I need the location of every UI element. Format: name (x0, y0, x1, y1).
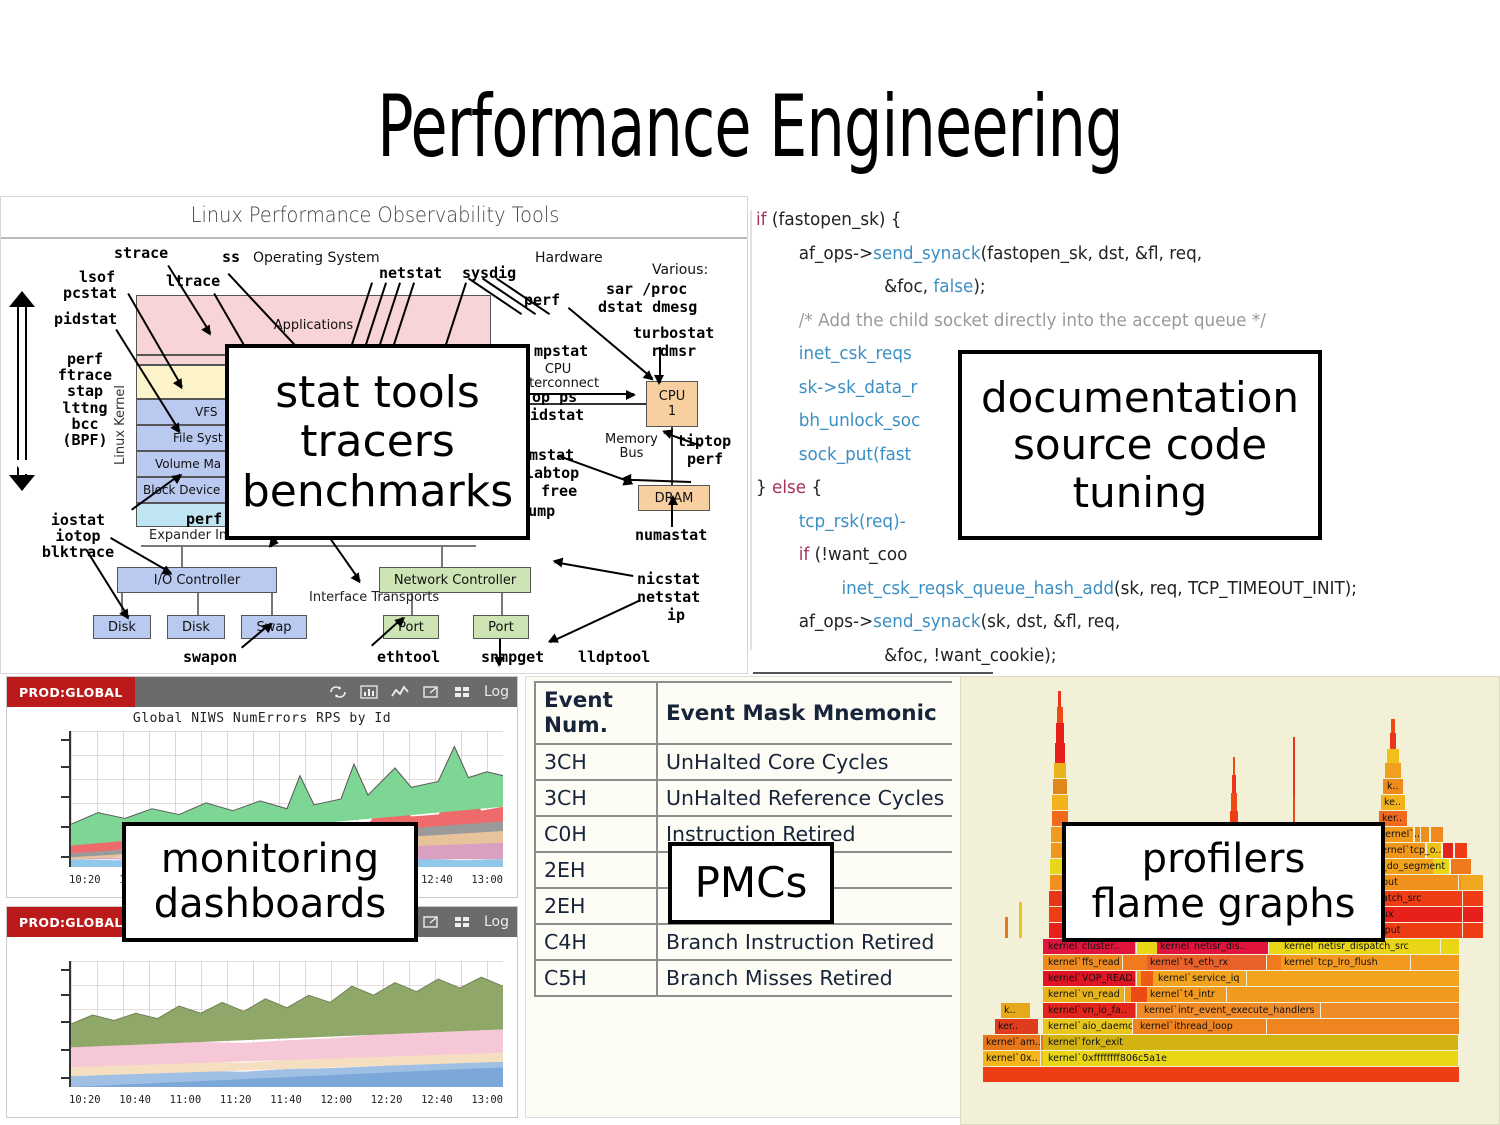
tool-netstat-net: netstat (637, 589, 700, 605)
code-token: (fastopen_sk, dst, &fl, req, (981, 244, 1203, 264)
x-tick-label: 12:20 (371, 1094, 403, 1106)
flame-frame[interactable]: kernel`ithread_loop (1137, 1019, 1267, 1034)
tool-slabtop: labtop (525, 465, 579, 481)
page-title: Performance Engineering (165, 78, 1335, 176)
bar-chart-icon[interactable] (360, 685, 378, 699)
code-token: send_synack (873, 244, 980, 264)
code-token: bh_unlock_soc (756, 411, 920, 431)
flame-frame[interactable]: kernel`VOP_READ.. (1045, 971, 1137, 986)
callout-monitoring: monitoringdashboards (122, 822, 418, 942)
tool-numastat: numastat (635, 527, 707, 543)
cell-event-mask: Branch Misses Retired (657, 960, 952, 996)
tool-pidstat-top: pidstat (54, 311, 117, 327)
cell-event-num: 3CH (535, 780, 657, 816)
code-token: (sk, req, TCP_TIMEOUT_INIT); (1114, 579, 1357, 599)
block-cpu-1: CPU 1 (646, 381, 698, 427)
col-header-event-mask: Event Mask Mnemonic (657, 682, 952, 744)
dashboard-icons-1[interactable]: Log (329, 677, 509, 707)
slide-root: Performance Engineering Linux Performanc… (0, 0, 1500, 1125)
flame-frame[interactable]: patch_src (1373, 891, 1463, 906)
flame-frame[interactable]: kernel`0x.. (983, 1051, 1041, 1066)
block-applications-label: Applications (274, 318, 353, 333)
code-line: if (!want_coo (756, 539, 1470, 573)
x-tick-label: 13:00 (471, 1094, 503, 1106)
dashboard-env-badge-1: PROD:GLOBAL (7, 677, 135, 707)
x-tick-label: 10:20 (69, 874, 101, 886)
disk-link-3 (271, 593, 273, 615)
cell-event-mask: Branch Instruction Retired (657, 924, 952, 960)
block-vfs-label: VFS (195, 405, 218, 419)
tool-ss: ss (222, 249, 240, 265)
block-cpu-1-index: 1 (668, 404, 676, 419)
x-tick-label: 10:40 (119, 1094, 151, 1106)
tool-free: free (541, 483, 577, 499)
line-chart-icon[interactable] (391, 685, 409, 699)
block-cpu-1-label: CPU (659, 389, 685, 404)
cell-event-num: 2EH (535, 888, 657, 924)
tool-nicstat: nicstat (637, 571, 700, 587)
dashboard-log-toggle-2[interactable]: Log (484, 914, 509, 930)
code-token: send_synack (873, 612, 980, 632)
tool-netstat-top: netstat (379, 265, 442, 281)
code-token: af_ops-> (756, 612, 873, 632)
callout-documentation-line-3: tuning (1073, 469, 1208, 516)
block-disk-2-label: Disk (182, 620, 210, 635)
callout-stat-tools-line-2: tracers (300, 417, 455, 466)
code-line: &foc, !want_cookie); (756, 640, 1470, 674)
dashboard-chart-title-1: Global NIWS NumErrors RPS by Id (7, 711, 517, 726)
block-block-device-label: Block Device (143, 483, 220, 497)
x-tick-label: 12:40 (421, 874, 453, 886)
tool-turbostat: turbostat (633, 325, 714, 341)
flame-frame[interactable]: nput (1373, 875, 1459, 890)
leader-top-ps (526, 393, 634, 395)
stacked-area-chart-2 (71, 961, 503, 1087)
block-port-2: Port (473, 615, 529, 639)
col-header-event-num: Event Num. (535, 682, 657, 744)
code-bottom-rule (753, 672, 993, 674)
cell-event-num: C5H (535, 960, 657, 996)
refresh-icon[interactable] (329, 685, 347, 699)
code-token: } (756, 478, 772, 498)
grid-icon[interactable] (453, 915, 471, 929)
code-line: &foc, false); (756, 271, 1470, 305)
tool-snmpget: snmpget (481, 649, 544, 665)
callout-stat-tools-line-1: stat tools (275, 368, 480, 417)
label-operating-system: Operating System (253, 251, 380, 266)
label-memory-bus: Memory Bus (605, 433, 658, 461)
table-row: 3CHUnHalted Core Cycles (535, 744, 952, 780)
code-left-rule (750, 210, 752, 650)
x-tick-label: 10:20 (69, 1094, 101, 1106)
dashboard-yticks-2 (61, 961, 69, 1087)
leader-lldptool (499, 639, 501, 665)
cell-event-num: C4H (535, 924, 657, 960)
table-header-row: Event Num. Event Mask Mnemonic (535, 682, 952, 744)
dashboard-log-toggle-1[interactable]: Log (484, 684, 509, 700)
tool-pcstat: pcstat (63, 285, 117, 301)
x-tick-label: 12:00 (320, 1094, 352, 1106)
tool-swapon: swapon (183, 649, 237, 665)
cell-event-num: 2EH (535, 852, 657, 888)
flame-frame[interactable]: nux (1373, 907, 1463, 922)
code-token: /* Add the child socket directly into th… (756, 311, 1266, 331)
code-token: inet_csk_reqsk_queue_hash_add (756, 579, 1114, 599)
tool-dstat-dmesg: dstat dmesg (598, 299, 697, 315)
callout-pmcs-line-1: PMCs (695, 859, 808, 906)
tool-pidstat-cpu: idstat (530, 407, 584, 423)
callout-stat-tools-line-3: benchmarks (242, 467, 513, 516)
tool-sar-proc: sar /proc (606, 281, 687, 297)
callout-profilers-line-1: profilers (1142, 837, 1306, 882)
dashboard-env-badge-2: PROD:GLOBAL (7, 907, 135, 937)
tool-ethtool: ethtool (377, 649, 440, 665)
x-tick-label: 13:00 (471, 874, 503, 886)
code-token: (fastopen_sk) { (772, 210, 901, 230)
cell-event-mask: UnHalted Reference Cycles (657, 780, 952, 816)
tool-perf-mem: perf (687, 451, 723, 467)
tool-iostat-group: iostat iotop blktrace (25, 512, 131, 561)
tool-rdmsr: rdmsr (651, 343, 696, 359)
leader-turbostat (659, 347, 661, 383)
tool-top-ps: op ps (532, 389, 577, 405)
leader-numastat (671, 497, 673, 527)
code-line: /* Add the child socket directly into th… (756, 305, 1470, 339)
code-line: af_ops->send_synack(fastopen_sk, dst, &f… (756, 238, 1470, 272)
dashboard-icons-2[interactable]: Log (422, 907, 509, 937)
code-token: &foc, (756, 277, 933, 297)
x-tick-label: 12:40 (421, 1094, 453, 1106)
tool-ip: ip (667, 607, 685, 623)
flame-frame[interactable]: input (1373, 923, 1463, 938)
label-various: Various: (652, 263, 708, 278)
flame-frame[interactable]: kernel`am.. (983, 1035, 1041, 1050)
callout-pmcs: PMCs (668, 842, 834, 924)
popout-icon[interactable] (422, 685, 440, 699)
cell-event-num: C0H (535, 816, 657, 852)
tool-vmstat: mstat (529, 447, 574, 463)
code-token: &foc, !want_cookie); (756, 646, 1057, 666)
diagram-rule (1, 237, 748, 239)
callout-documentation: documentationsource codetuning (958, 350, 1322, 540)
popout-icon[interactable] (422, 915, 440, 929)
block-network-controller-label: Network Controller (394, 573, 516, 588)
disk-link-2 (197, 593, 199, 615)
table-row: 3CHUnHalted Reference Cycles (535, 780, 952, 816)
tool-perf-block: perf (186, 511, 222, 527)
tool-strace: strace (114, 245, 168, 261)
leader-nicstat (554, 561, 633, 577)
block-volume-manager-label: Volume Ma (155, 457, 221, 471)
code-token: (!want_coo (815, 545, 908, 565)
grid-icon[interactable] (453, 685, 471, 699)
net-link-1 (441, 545, 443, 567)
code-token: af_ops-> (756, 244, 873, 264)
code-line: if (fastopen_sk) { (756, 204, 1470, 238)
net-bus-line (381, 545, 476, 547)
callout-documentation-line-2: source code (1013, 421, 1267, 468)
code-token: false (933, 277, 973, 297)
x-tick-label: 11:20 (220, 1094, 252, 1106)
callout-stat-tools: stat toolstracersbenchmarks (225, 344, 530, 540)
callout-monitoring-line-1: monitoring (161, 837, 379, 882)
dashboard-xaxis-2: 10:2010:4011:0011:2011:4012:0012:2012:40… (69, 1091, 503, 1109)
leader-netstat-ip (550, 599, 641, 643)
flame-frame[interactable]: kernel`ffs_read (1045, 955, 1123, 970)
flame-frame[interactable]: kernel`0xffffffff806c5a1e (1045, 1051, 1459, 1066)
tool-perf-group: perf ftrace stap lttng bcc (BPF) (45, 351, 125, 448)
code-line: af_ops->send_synack(sk, dst, &fl, req, (756, 606, 1470, 640)
flame-frame[interactable]: kernel`t4_intr (1147, 987, 1227, 1002)
block-disk-2: Disk (167, 615, 225, 639)
flame-frame[interactable]: ke.. (1381, 795, 1407, 810)
tool-mpstat: mpstat (534, 343, 588, 359)
flame-frame[interactable]: kernel`vn_read (1045, 987, 1125, 1002)
flame-frame[interactable]: kernel`fork_exit (1045, 1035, 1459, 1050)
scope-arrow-icon (9, 291, 35, 491)
flame-frame[interactable]: kernel`tcp_lro_flush (1281, 955, 1411, 970)
code-token: (sk, dst, &fl, req, (981, 612, 1121, 632)
tool-lldptool: lldptool (578, 649, 650, 665)
block-io-controller: I/O Controller (117, 567, 277, 593)
code-token: else (772, 478, 806, 498)
flame-frame[interactable]: kernel`intr_event_execute_handlers (1141, 1003, 1321, 1018)
table-row: C5HBranch Misses Retired (535, 960, 952, 996)
flame-frame[interactable]: k.. (1001, 1003, 1031, 1018)
x-tick-label: 11:40 (270, 1094, 302, 1106)
block-port-2-label: Port (488, 620, 514, 635)
flame-frame[interactable]: kernel`vn_io_fa.. (1045, 1003, 1137, 1018)
code-line: inet_csk_reqsk_queue_hash_add(sk, req, T… (756, 573, 1470, 607)
callout-profilers-line-2: flame graphs (1092, 882, 1356, 927)
code-token: sock_put(fast (756, 445, 911, 465)
block-disk-1-label: Disk (108, 620, 136, 635)
pmc-table: Event Num. Event Mask Mnemonic 3CHUnHalt… (534, 681, 952, 997)
flame-frame[interactable]: k.. (1384, 779, 1404, 794)
callout-monitoring-line-2: dashboards (154, 882, 386, 927)
code-token: ); (973, 277, 985, 297)
code-token: inet_csk_reqs (756, 344, 912, 364)
diagram-title: Linux Performance Observability Tools (31, 203, 719, 227)
port-link-2 (501, 593, 503, 615)
flame-frame[interactable]: kernel`service_iq (1155, 971, 1247, 986)
label-hardware: Hardware (535, 251, 603, 266)
code-token: tcp_rsk(req)- (756, 512, 906, 532)
cell-event-mask: UnHalted Core Cycles (657, 744, 952, 780)
code-token: sk->sk_data_r (756, 378, 917, 398)
callout-profilers: profilersflame graphs (1062, 822, 1385, 942)
code-token: if (756, 545, 815, 565)
flame-frame[interactable]: kernel`t4_eth_rx (1147, 955, 1267, 970)
cell-event-num: 3CH (535, 744, 657, 780)
tool-lsof: lsof (79, 269, 115, 285)
dashboard-plot-2 (69, 961, 503, 1087)
code-token: if (756, 210, 772, 230)
label-interface-transports: Interface Transports (309, 591, 439, 605)
io-link-1 (181, 545, 183, 567)
code-token: { (806, 478, 822, 498)
flame-frame[interactable]: kernel`aio_daemon (1045, 1019, 1133, 1034)
x-tick-label: 11:00 (170, 1094, 202, 1106)
table-row: C4HBranch Instruction Retired (535, 924, 952, 960)
flame-frame[interactable]: ker.. (995, 1019, 1039, 1034)
dashboard-yticks-1 (61, 731, 69, 867)
callout-documentation-line-1: documentation (981, 374, 1299, 421)
